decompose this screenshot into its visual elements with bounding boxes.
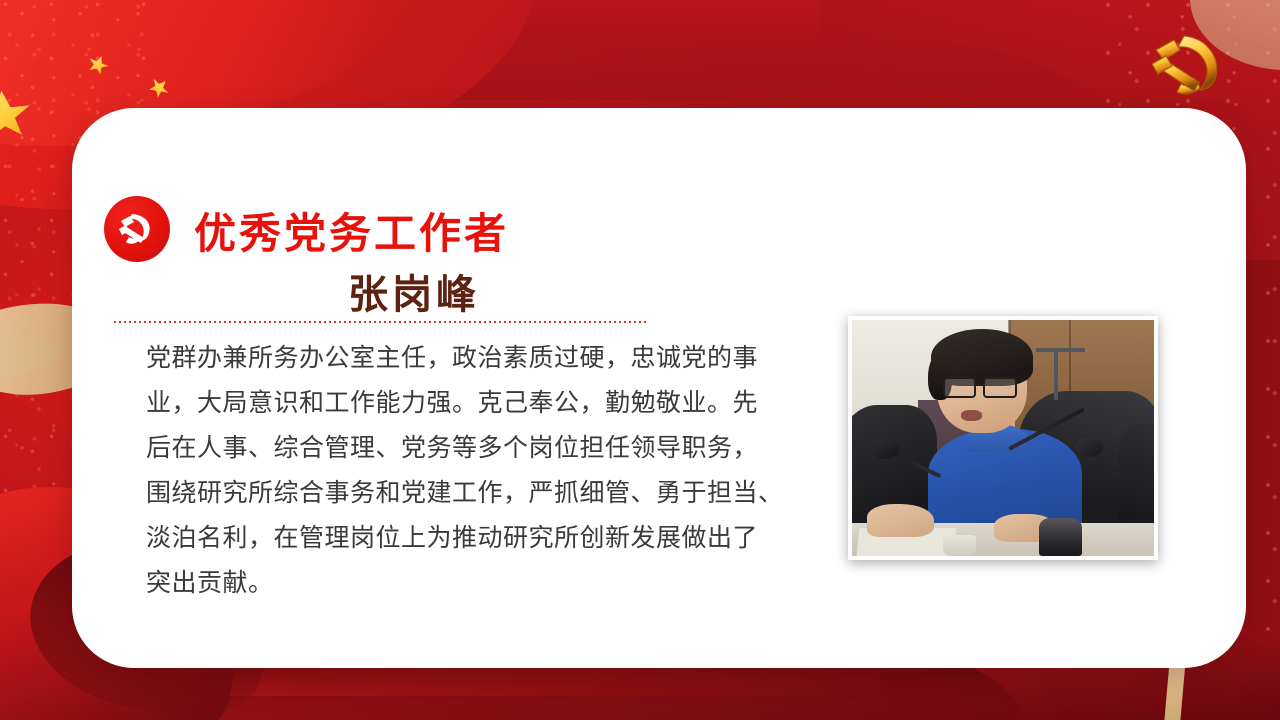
description-text: 党群办兼所务办公室主任，政治素质过硬，忠诚党的事 业，大局意识和工作能力强。克己… [146,336,836,606]
dotted-divider [114,321,646,323]
slide-root: 优秀党务工作者 张岗峰 党群办兼所务办公室主任，政治素质过硬，忠诚党的事 业，大… [0,0,1280,720]
page-title: 优秀党务工作者 [194,200,509,261]
text-line: 淡泊名利，在管理岗位上为推动研究所创新发展做出了 [146,516,836,561]
text-line: 突出贡献。 [146,561,836,606]
person-photo [848,316,1158,560]
content-card: 优秀党务工作者 张岗峰 党群办兼所务办公室主任，政治素质过硬，忠诚党的事 业，大… [72,108,1246,668]
text-line: 党群办兼所务办公室主任，政治素质过硬，忠诚党的事 [146,336,836,381]
person-name: 张岗峰 [348,262,480,320]
silk-top-band [0,0,1280,100]
photo-scene [852,320,1154,556]
text-line: 后在人事、综合管理、党务等多个岗位担任领导职务， [146,426,836,471]
text-line: 业，大局意识和工作能力强。克己奉公，勤勉敬业。先 [146,381,836,426]
party-badge-icon [104,196,170,262]
party-emblem-icon [1132,22,1238,102]
gold-ribbon-left-secondary [0,328,63,388]
photo-shading-overlay [852,320,1154,556]
text-line: 围绕研究所综合事务和党建工作，严抓细管、勇于担当、 [146,471,836,516]
gold-ribbon-top-right [1190,0,1280,70]
